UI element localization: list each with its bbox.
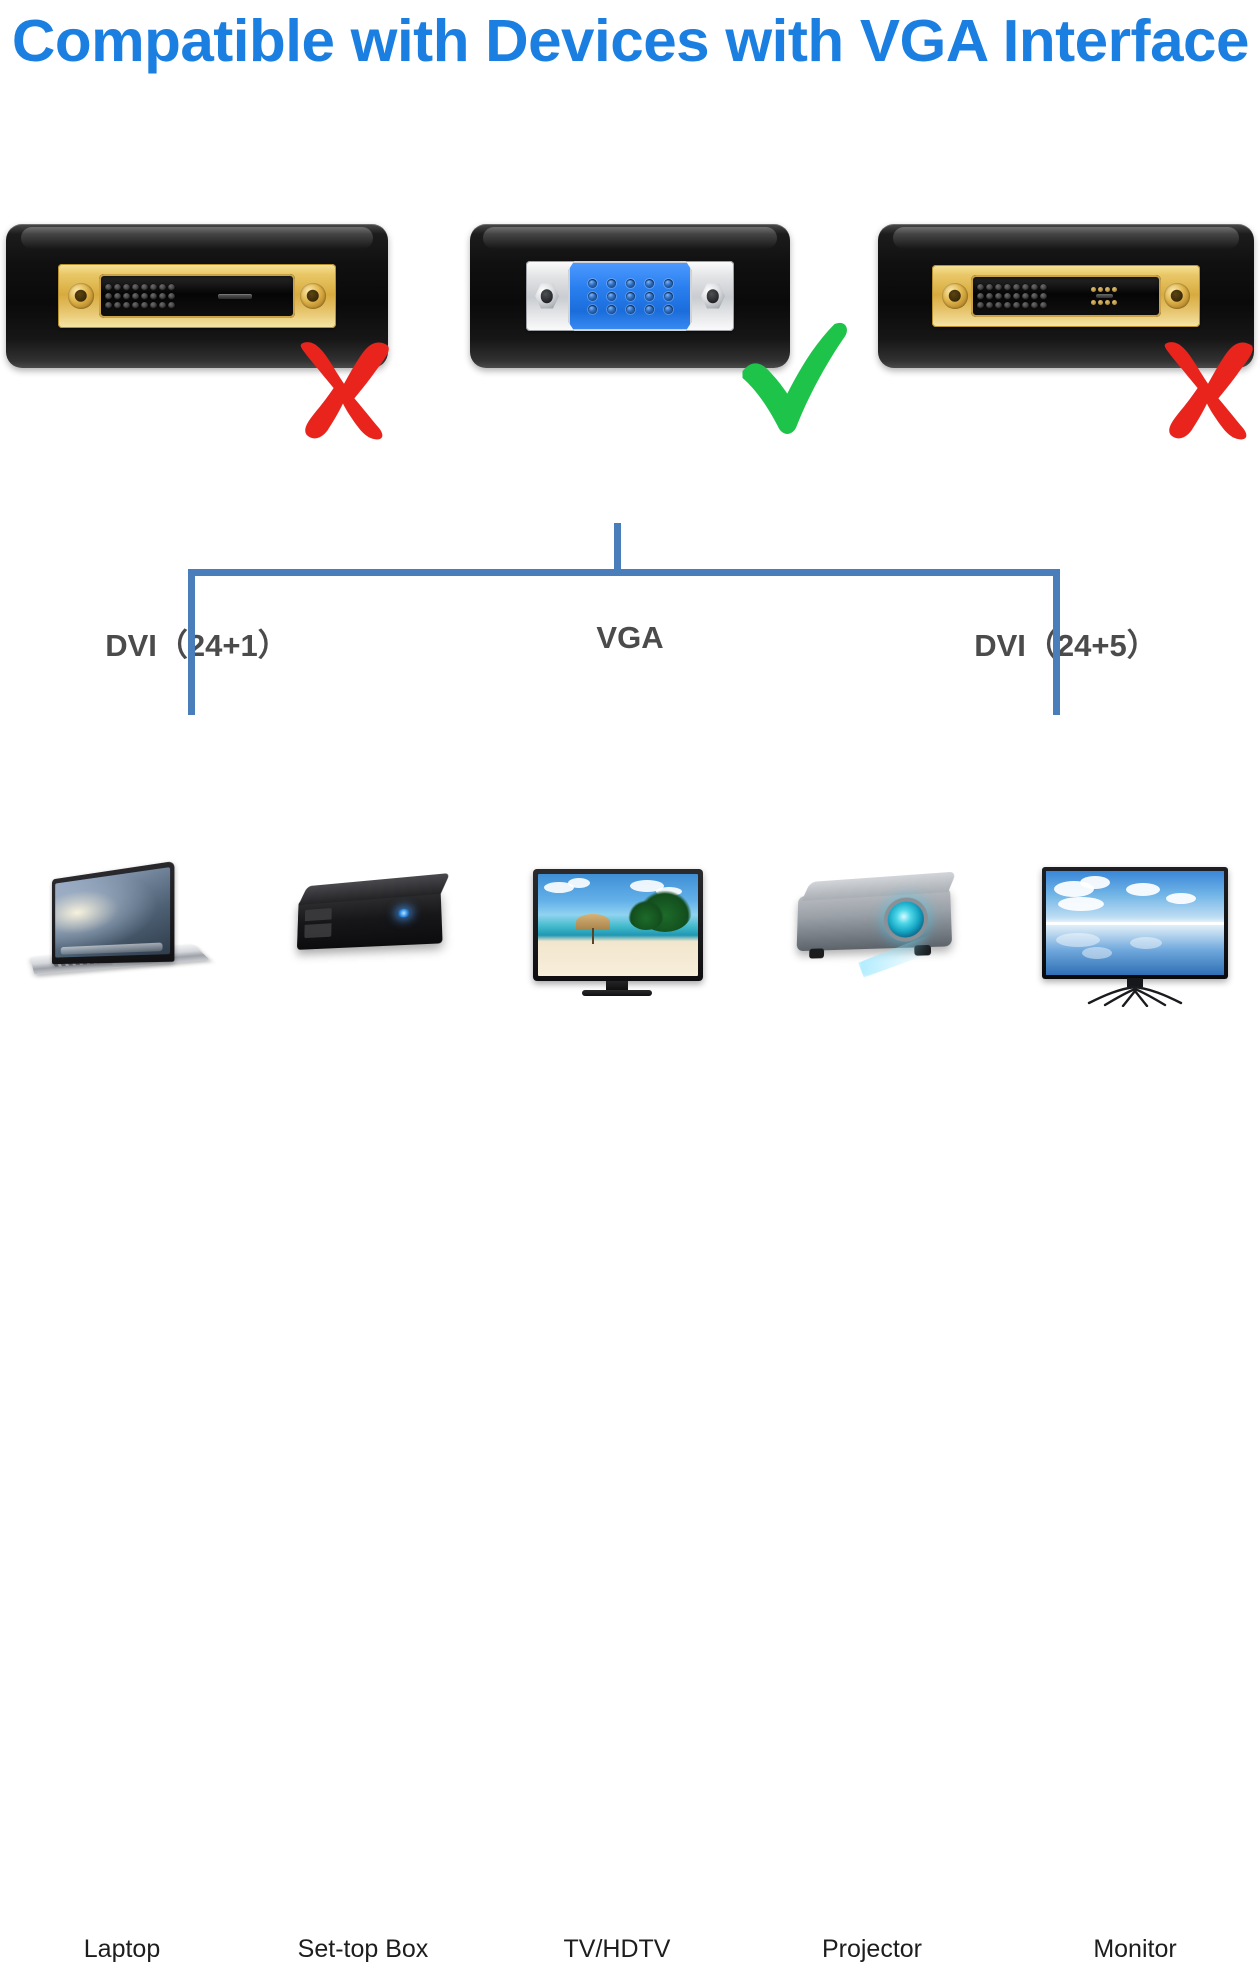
device-tv-hdtv: TV/HDTV [517,865,717,1015]
bracket-leg-right [1053,569,1060,715]
monitor-stand-base [1075,985,1195,1007]
bracket-stem [614,523,621,575]
bracket-horizontal-bar [188,569,1060,576]
connector-housing [878,224,1254,368]
device-label-tv-hdtv: TV/HDTV [517,1935,717,1964]
device-label-monitor: Monitor [1030,1935,1240,1964]
monitor-screen-sky-scene [1046,871,1224,975]
monitor-bezel [1042,867,1228,979]
connector-dvi-24-5: DVI（24+5） [878,224,1254,368]
device-projector: Projector [772,865,972,1015]
tv-bezel [533,869,703,981]
vga-dsub-connector [568,261,692,331]
dvi-gold-flange [932,265,1200,327]
laptop-illustration [22,865,222,1015]
set-top-box-chassis [297,890,443,950]
device-label-projector: Projector [772,1935,972,1964]
page-title-text: Compatible with Devices with VGA Interfa… [11,7,1248,75]
tv-screen-beach-scene [538,874,698,976]
screw-post-right-icon [300,283,326,309]
projector-lens-icon [888,900,925,938]
dvi-gold-flange [58,264,336,328]
projector-illustration [772,865,972,1015]
monitor-illustration [1030,865,1240,1015]
tv-illustration [517,865,717,1015]
device-monitor: Monitor [1030,865,1240,1015]
bracket-leg-left [188,569,195,715]
screw-post-left-icon [942,283,968,309]
connector-housing [6,224,388,368]
vga-pin-row [588,305,673,314]
tv-stand-base [582,990,652,996]
dvi-pin-cavity [99,274,295,318]
set-top-box-illustration [263,865,463,1015]
laptop-display [52,861,174,964]
screw-post-left-icon [68,283,94,309]
dvi-pin-cavity [971,275,1161,317]
connector-vga: VGA [470,224,790,368]
device-laptop: Laptop [22,865,222,1015]
connector-dvi-24-1: DVI（24+1） [6,224,388,368]
vga-pin-row [588,292,673,301]
device-label-set-top-box: Set-top Box [263,1935,463,1964]
projector-chassis [797,887,953,951]
device-set-top-box: Set-top Box [263,865,463,1015]
power-led-icon [397,908,410,918]
page-title: Compatible with Devices with VGA Interfa… [0,2,1260,80]
dvi-flat-blade-slot [175,294,295,299]
connection-bracket [0,505,1260,735]
screw-post-right-icon [1164,283,1190,309]
screw-post-right-icon [701,283,725,309]
dvi-digital-pin-grid [977,284,1047,309]
vga-pin-row [588,279,673,288]
screw-post-left-icon [535,283,559,309]
usb-ports-icon [304,908,331,938]
device-label-laptop: Laptop [22,1935,222,1964]
dvi-analog-pin-cluster [1047,287,1161,305]
connector-housing [470,224,790,368]
dvi-digital-pin-grid [105,284,175,309]
vga-silver-flange [526,261,734,331]
